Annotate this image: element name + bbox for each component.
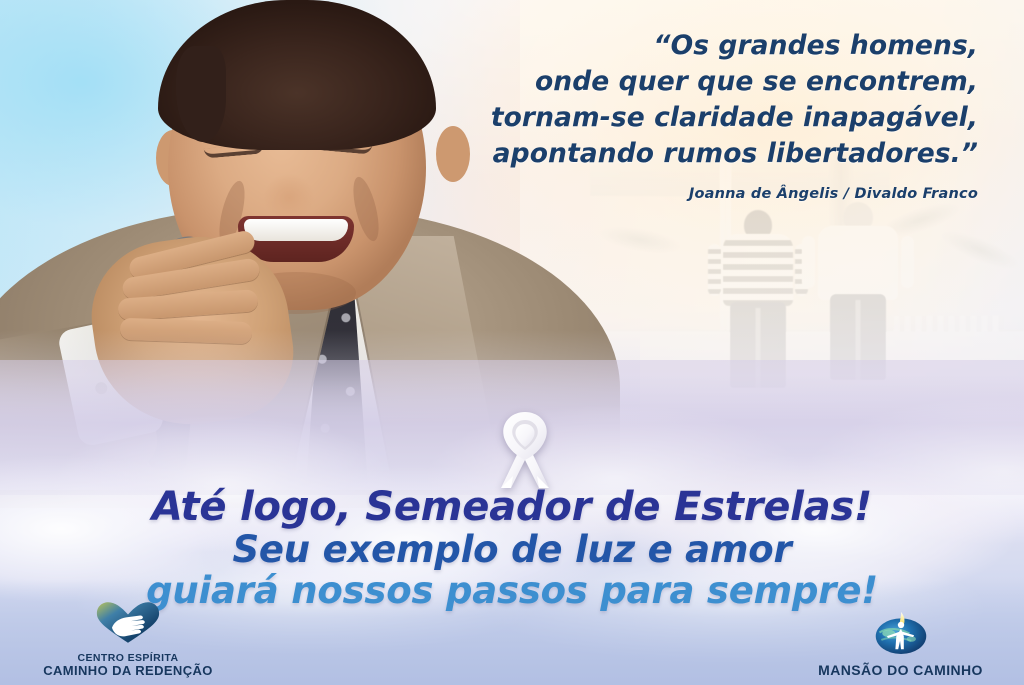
logo-centro-espirita-caminho-da-redencao: CENTRO ESPÍRITA CAMINHO DA REDENÇÃO — [28, 601, 228, 679]
logo-right-line-2: MANSÃO DO CAMINHO — [818, 663, 983, 679]
quote-block: “Os grandes homens, onde quer que se enc… — [318, 28, 978, 202]
quote-line-3: tornam-se claridade inapagável, — [318, 100, 978, 136]
portrait-nose — [258, 152, 320, 216]
white-mourning-ribbon-icon — [487, 408, 563, 490]
quote-line-1: “Os grandes homens, — [318, 28, 978, 64]
logo-mansao-do-caminho: MANSÃO DO CAMINHO — [793, 608, 1008, 679]
globe-figure-flame-icon — [872, 608, 930, 660]
memorial-poster: “Os grandes homens, onde quer que se enc… — [0, 0, 1024, 685]
quote-attribution: Joanna de Ângelis / Divaldo Franco — [318, 186, 978, 202]
logo-right-text: MANSÃO DO CAMINHO — [818, 663, 983, 679]
logo-left-line-2: CAMINHO DA REDENÇÃO — [43, 664, 213, 679]
logo-left-text: CENTRO ESPÍRITA CAMINHO DA REDENÇÃO — [43, 653, 213, 679]
heart-hand-icon — [95, 601, 161, 650]
portrait-teeth — [244, 219, 348, 241]
quote-line-4: apontando rumos libertadores.” — [318, 136, 978, 172]
headline-line-1: Até logo, Semeador de Estrelas! — [0, 486, 1024, 529]
headline-block: Até logo, Semeador de Estrelas! Seu exem… — [0, 486, 1024, 611]
quote-line-2: onde quer que se encontrem, — [318, 64, 978, 100]
headline-line-2: Seu exemplo de luz e amor — [0, 529, 1024, 570]
